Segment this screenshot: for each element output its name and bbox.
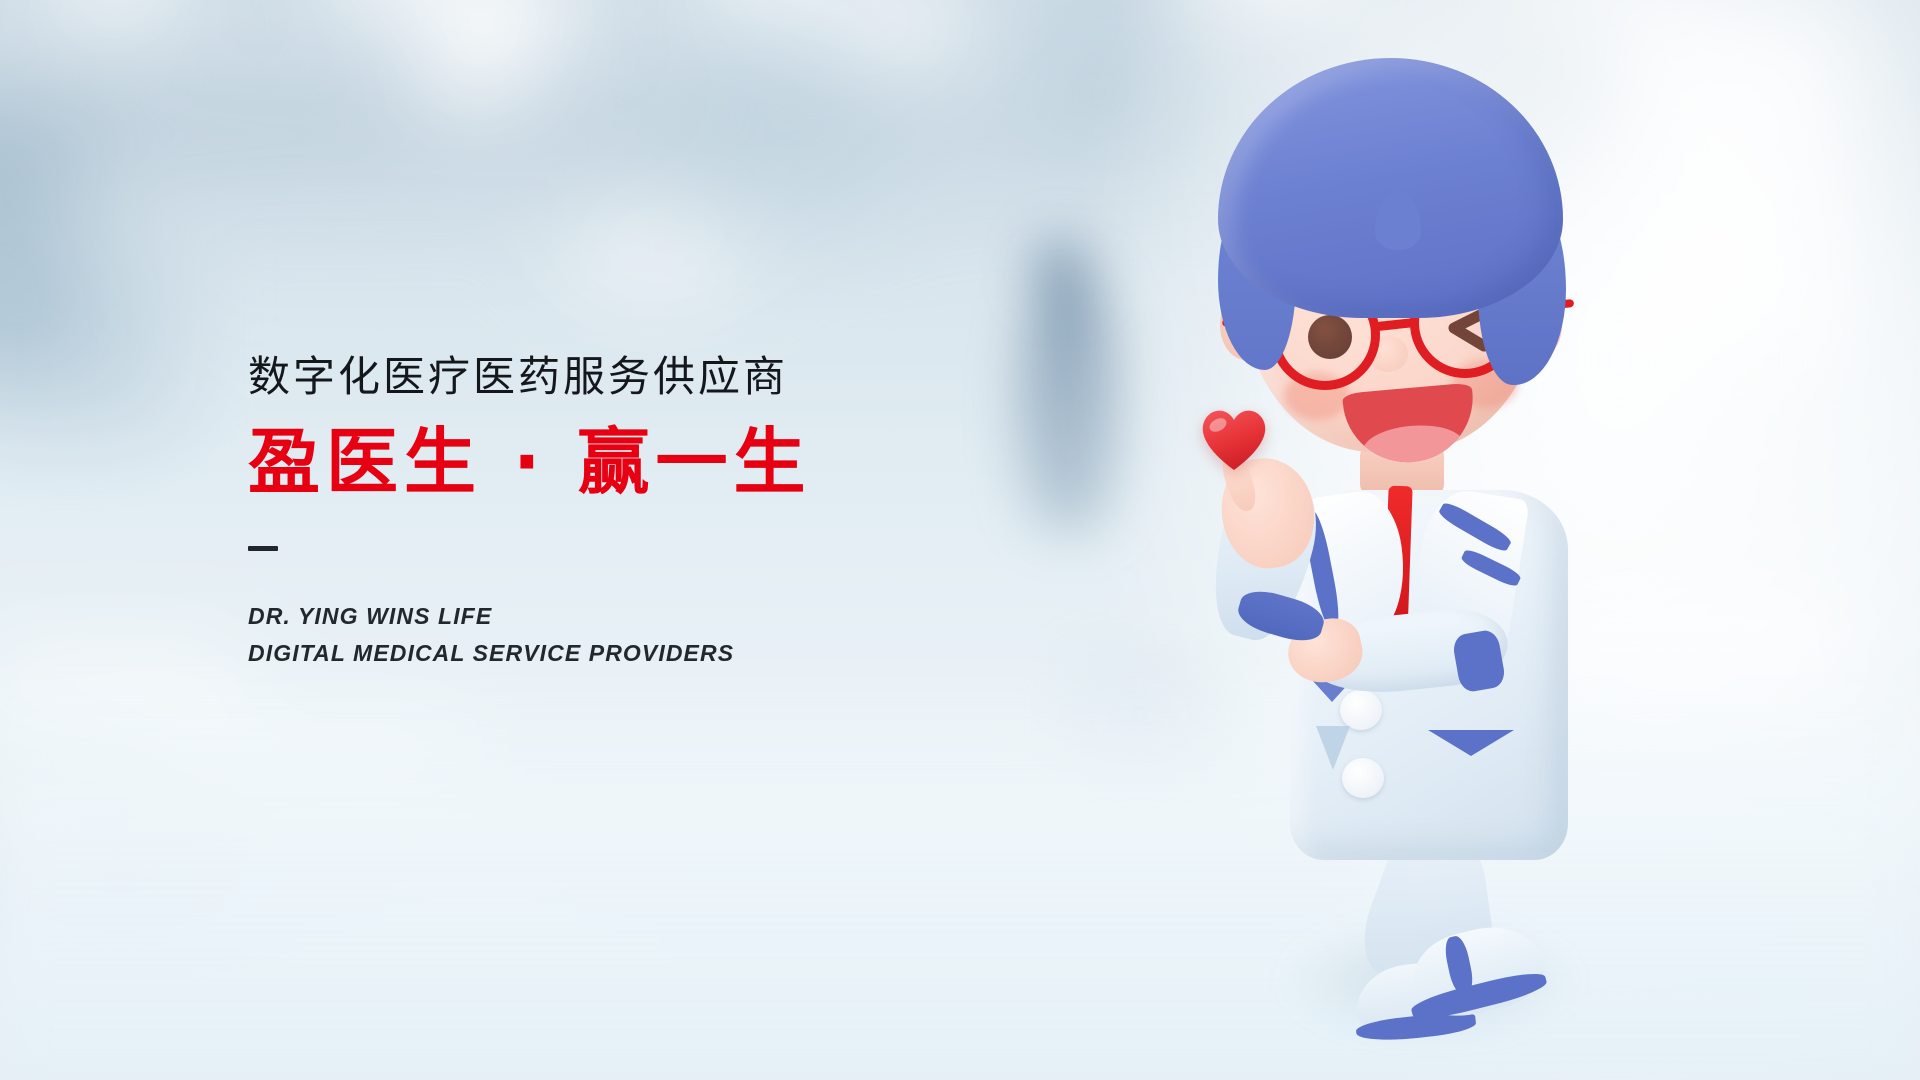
english-tagline-primary: DR. YING WINS LIFE xyxy=(248,598,812,635)
corridor-shape xyxy=(0,250,180,440)
title-divider xyxy=(248,546,278,551)
hair xyxy=(1218,58,1563,318)
doctor-character-illustration xyxy=(1160,40,1660,1070)
ceiling-light xyxy=(410,30,540,110)
heart-icon xyxy=(1198,406,1270,472)
english-tagline-block: DR. YING WINS LIFE DIGITAL MEDICAL SERVI… xyxy=(248,598,812,673)
hero-copy: 数字化医疗医药服务供应商 盈医生 · 赢一生 DR. YING WINS LIF… xyxy=(248,352,812,673)
page-subtitle: 数字化医疗医药服务供应商 xyxy=(248,352,812,402)
banner-stage: 数字化医疗医药服务供应商 盈医生 · 赢一生 DR. YING WINS LIF… xyxy=(0,0,1920,1080)
ceiling-light xyxy=(40,0,190,20)
coat-button xyxy=(1340,690,1382,730)
tongue xyxy=(1361,422,1464,468)
english-tagline-secondary: DIGITAL MEDICAL SERVICE PROVIDERS xyxy=(248,635,812,672)
window-panel xyxy=(680,0,880,240)
coat-button xyxy=(1342,758,1384,798)
page-title: 盈医生 · 赢一生 xyxy=(248,422,812,503)
